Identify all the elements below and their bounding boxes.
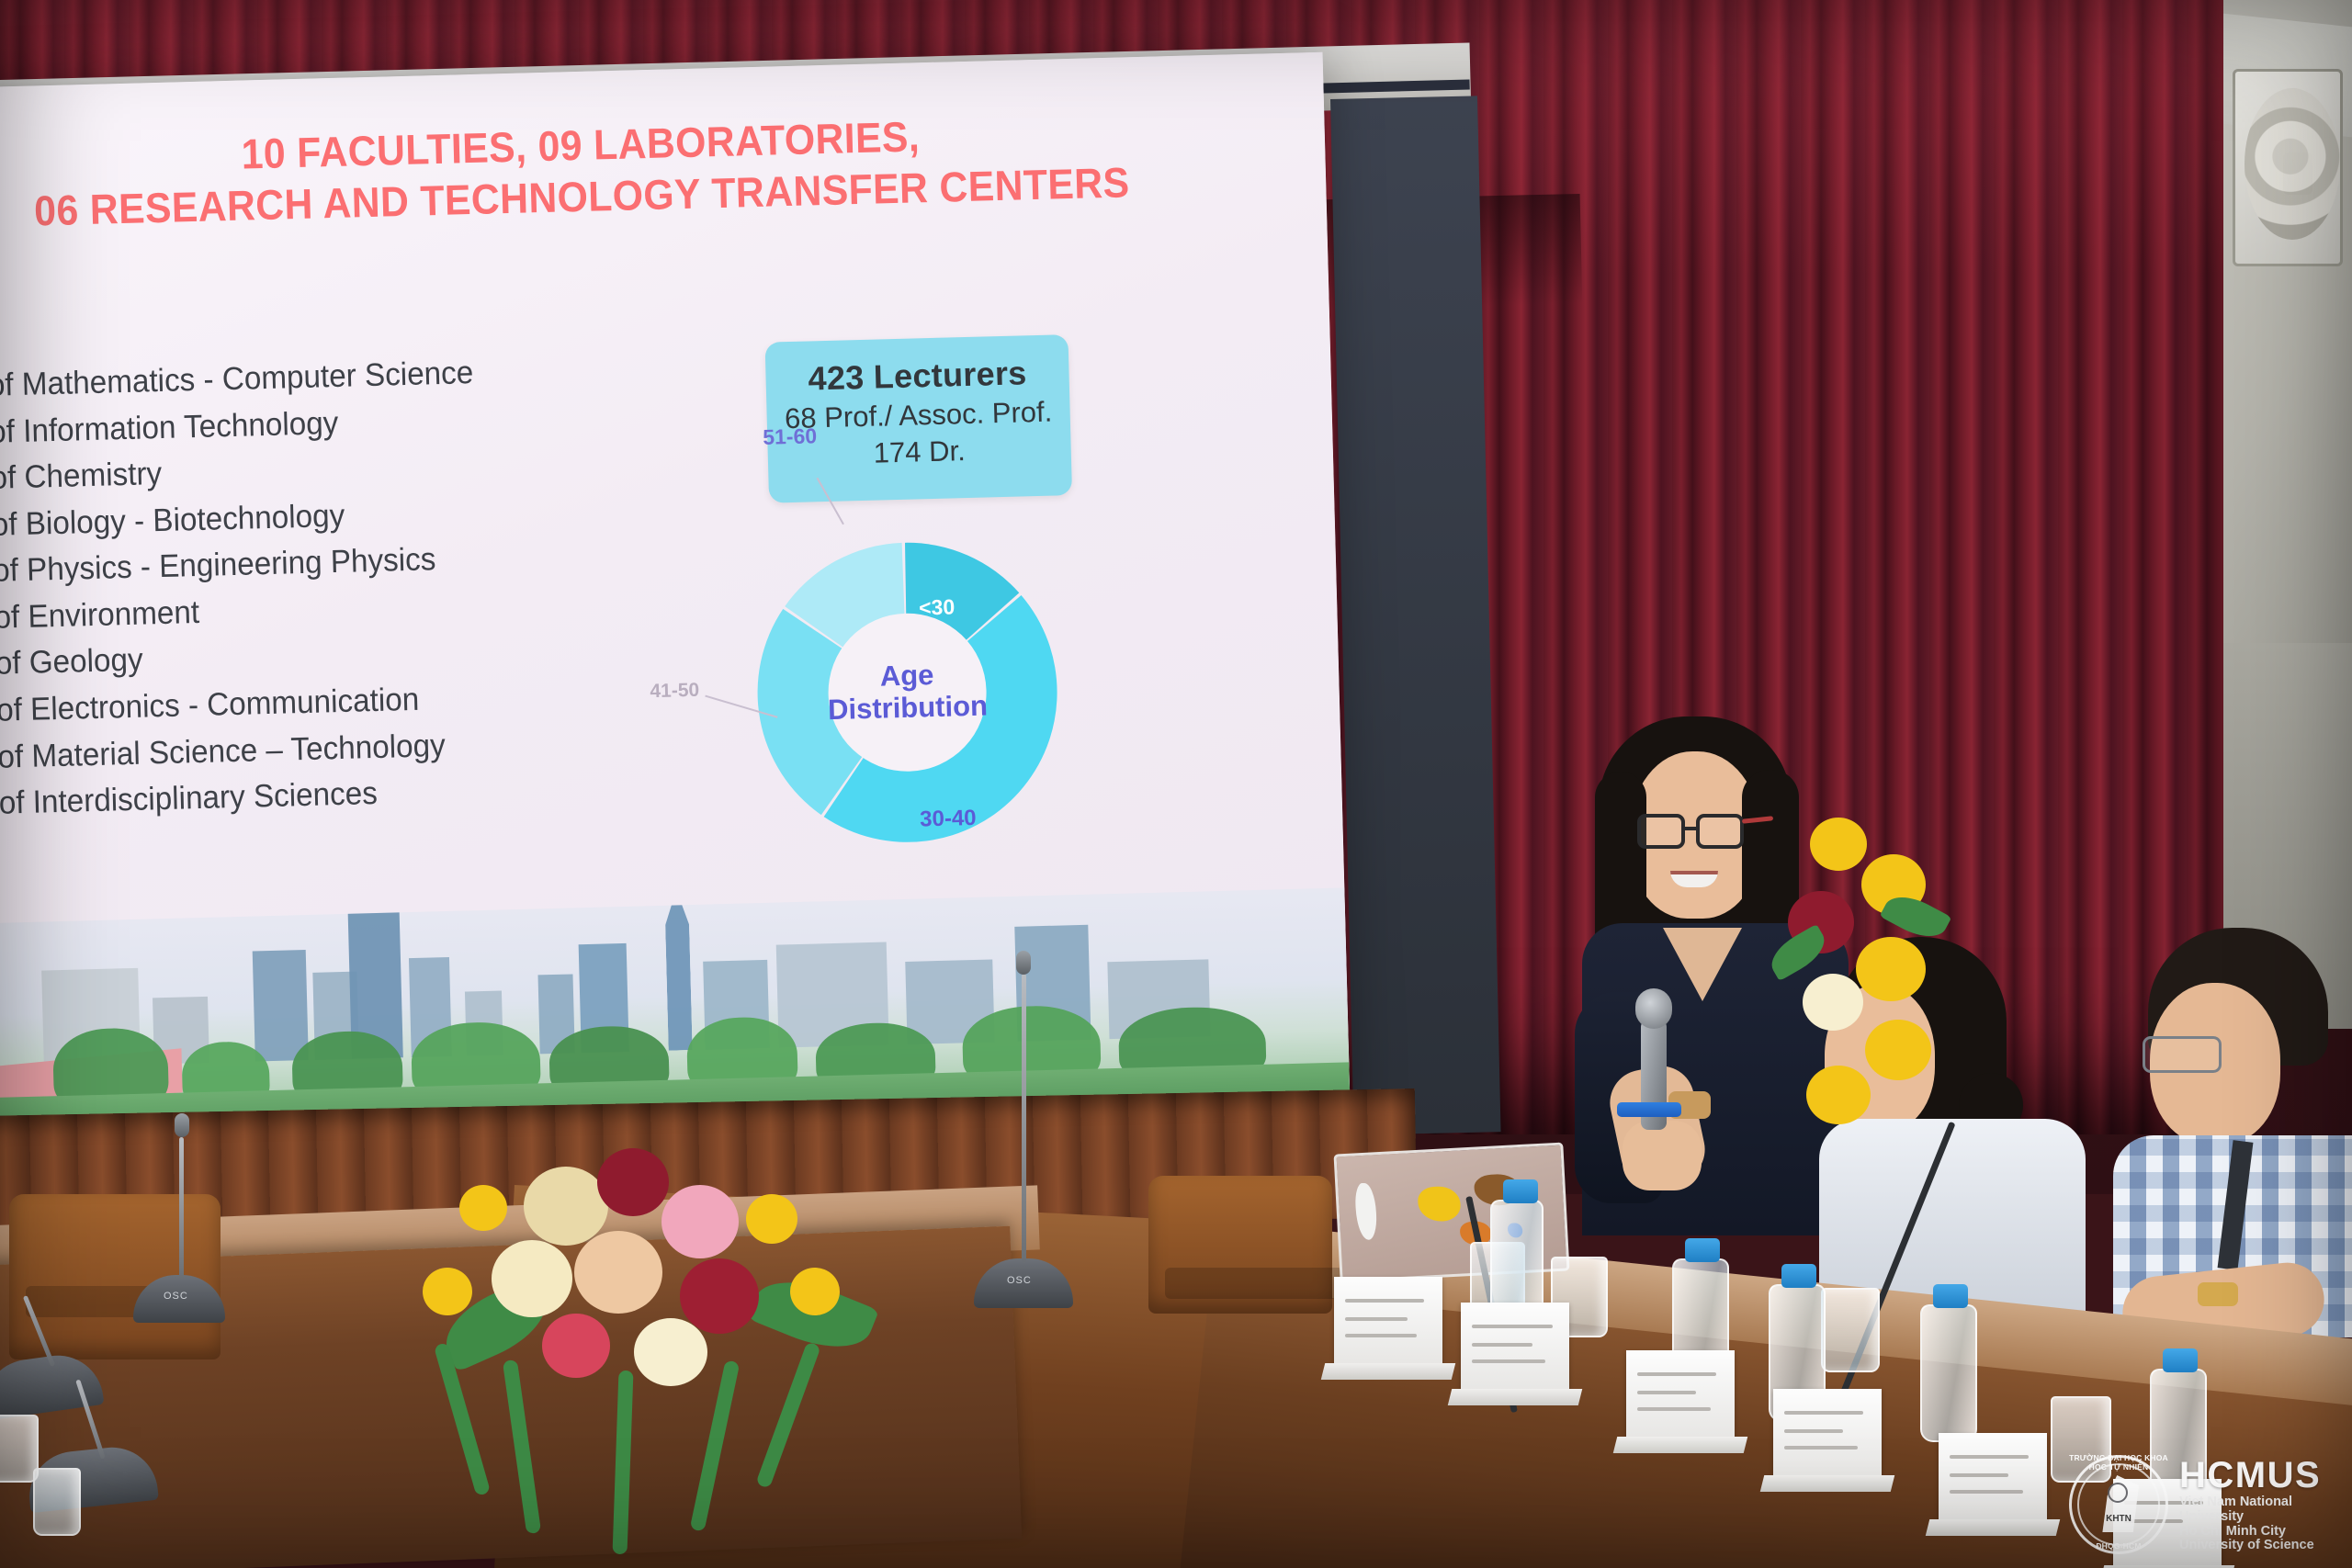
name-placard [1626, 1350, 1735, 1438]
donut-svg [752, 537, 1063, 849]
chart-label-51-60: 51-60 [763, 423, 818, 450]
seal-center-text: KHTN [2069, 1514, 2168, 1524]
chart-label-41-50: 41-50 [650, 680, 699, 703]
name-placard [1939, 1433, 2047, 1521]
slide-title: 10 FACULTIES, 09 LABORATORIES, 06 RESEAR… [0, 101, 1274, 241]
bottle-cap [1933, 1284, 1968, 1308]
chair-center [1148, 1176, 1332, 1314]
microphone-grille [1635, 988, 1672, 1029]
logo-text-block: HCMUS Viet Nam National University Ho Ch… [2179, 1456, 2335, 1553]
name-placard [1461, 1303, 1569, 1391]
attendee-2-watch [2198, 1282, 2238, 1306]
chart-label-30-40: 30-40 [920, 806, 977, 833]
speaker-glasses-left-lens [1637, 814, 1685, 849]
water-bottle[interactable] [1920, 1304, 1977, 1442]
microphone-flag [1617, 1102, 1681, 1117]
attendee-2-glasses [2143, 1036, 2222, 1073]
speaker-glasses-bridge [1685, 827, 1697, 830]
chart-label-under-30: <30 [919, 594, 955, 620]
hcmus-logo: TRƯỜNG ĐẠI HỌC KHOA HỌC TỰ NHIÊN KHTN ĐH… [2069, 1450, 2335, 1559]
seal-emblem-inner-icon [2108, 1483, 2128, 1503]
water-glass[interactable] [33, 1468, 81, 1536]
logo-line-1: Viet Nam National University [2179, 1495, 2335, 1524]
fan-hub [2283, 152, 2312, 195]
attendee-front-right [2141, 928, 2352, 1332]
sticker-bird [1354, 1182, 1377, 1240]
flower-bouquet-right [1718, 790, 1975, 1176]
university-seal-icon: TRƯỜNG ĐẠI HỌC KHOA HỌC TỰ NHIÊN KHTN ĐH… [2069, 1455, 2168, 1554]
logo-line-3: University of Science [2179, 1539, 2335, 1553]
age-distribution-chart: Age Distribution <30 30-40 41-50 51-60 [682, 489, 1170, 905]
bottle-cap [1503, 1179, 1538, 1203]
projection-screen: 10 FACULTIES, 09 LABORATORIES, 06 RESEAR… [0, 52, 1351, 1154]
seal-bottom-text: ĐHQG-HCM [2069, 1541, 2168, 1551]
name-placard [1334, 1277, 1442, 1365]
sticker-yellow-animal [1418, 1186, 1462, 1223]
wall-fan-icon [2233, 69, 2343, 266]
water-glass[interactable] [1821, 1288, 1880, 1372]
seal-top-text: TRƯỜNG ĐẠI HỌC KHOA HỌC TỰ NHIÊN [2069, 1453, 2168, 1472]
bottle-cap [1685, 1238, 1720, 1262]
donut-chart [752, 537, 1063, 849]
presentation-slide: 10 FACULTIES, 09 LABORATORIES, 06 RESEAR… [0, 52, 1351, 1154]
lecturer-stat-box: 423 Lecturers 68 Prof./ Assoc. Prof. 174… [765, 334, 1072, 503]
bottle-cap [2163, 1348, 2198, 1372]
logo-acronym: HCMUS [2179, 1456, 2335, 1495]
speaker-hand [1623, 1121, 1702, 1190]
bottle-cap [1781, 1264, 1816, 1288]
lecturer-count: 423 Lecturers [765, 353, 1069, 400]
flower-bouquet-center [404, 1130, 919, 1562]
faculty-list: Faculty of Mathematics - Computer Scienc… [0, 346, 616, 829]
name-placard [1773, 1389, 1882, 1477]
wall-dark-panel [1330, 96, 1501, 1134]
conference-hall-photo: 10 FACULTIES, 09 LABORATORIES, 06 RESEAR… [0, 0, 2352, 1568]
logo-line-2: Ho Chi Minh City [2179, 1525, 2335, 1540]
